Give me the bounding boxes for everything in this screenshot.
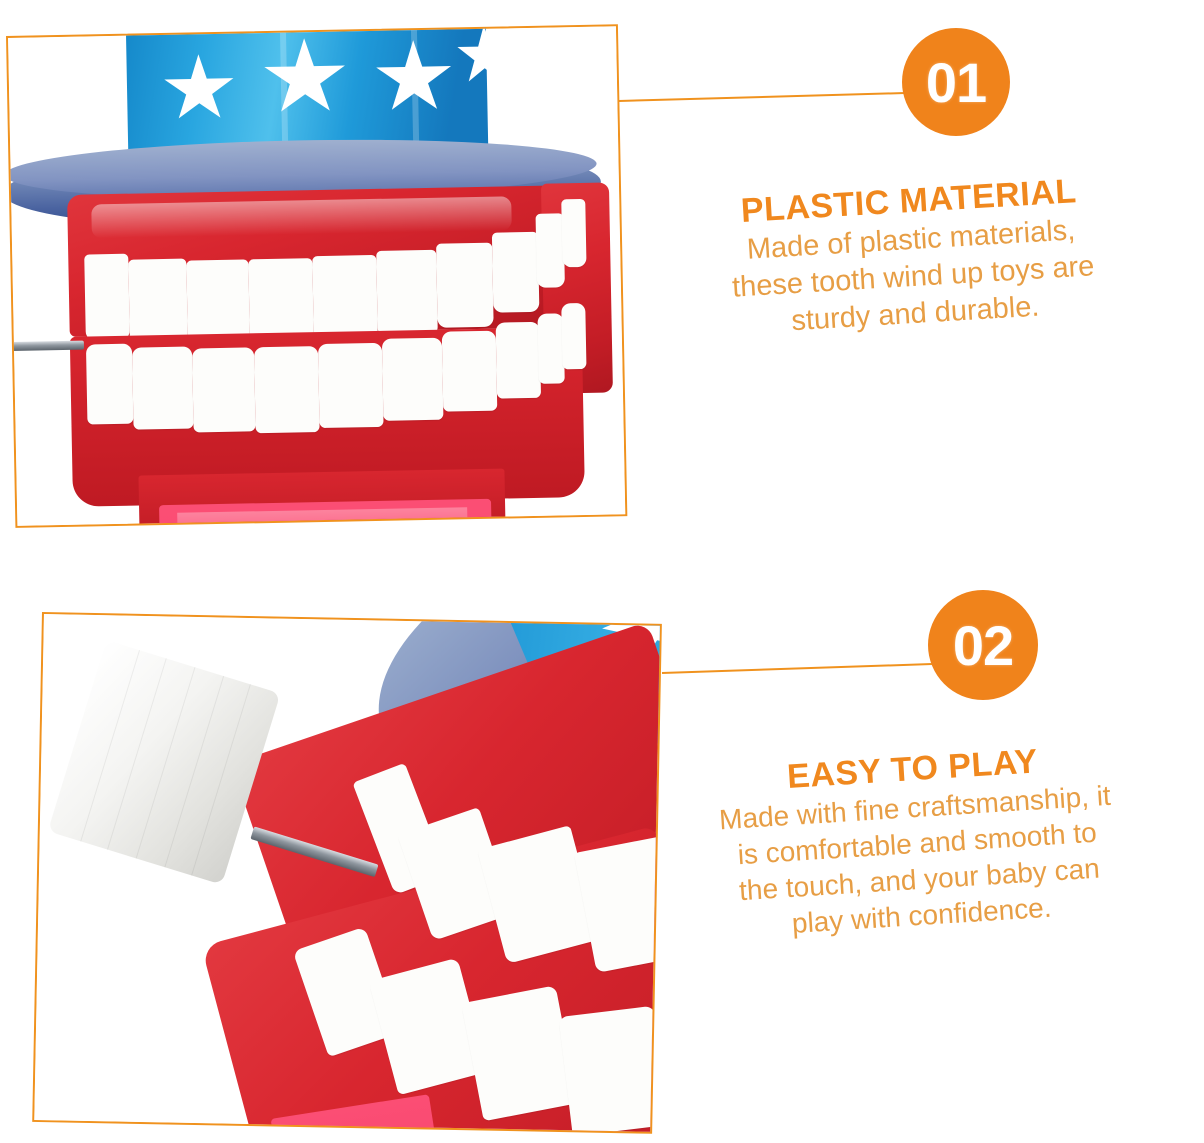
badge-02: 02 <box>928 590 1038 700</box>
tooth-upper <box>536 213 565 288</box>
tooth-upper <box>128 259 188 344</box>
tooth-lower <box>382 338 444 421</box>
tooth-lower <box>132 346 194 429</box>
feature-text-01: PLASTIC MATERIAL Made of plastic materia… <box>628 164 1196 350</box>
tooth-lower <box>442 331 498 412</box>
feature-block-02: 02 EASY TO PLAY Made with fine craftsman… <box>0 570 1204 1143</box>
infographic-page: 01 PLASTIC MATERIAL Made of plastic mate… <box>0 0 1204 1143</box>
connector-line-02 <box>662 663 932 674</box>
feature-text-02: EASY TO PLAY Made with fine craftsmanshi… <box>629 730 1204 951</box>
tooth-upper <box>376 250 438 337</box>
connector-line-01 <box>619 92 909 102</box>
product-photo-01 <box>8 26 625 526</box>
wind-up-key <box>48 640 281 885</box>
tooth-lower <box>558 1006 661 1134</box>
tooth-lower <box>496 322 541 399</box>
tooth-lower <box>254 346 320 433</box>
tooth-upper <box>492 232 540 313</box>
product-photo-02 <box>34 614 660 1132</box>
wind-up-rod <box>6 341 84 352</box>
tooth-upper <box>561 199 586 267</box>
tooth-upper <box>436 243 494 328</box>
badge-number: 01 <box>926 50 986 115</box>
tooth-upper <box>84 254 130 341</box>
tooth-lower <box>86 344 134 425</box>
badge-number: 02 <box>953 613 1013 678</box>
tooth-lower <box>561 303 586 369</box>
tooth-lower <box>192 347 256 432</box>
feature-block-01: 01 PLASTIC MATERIAL Made of plastic mate… <box>0 0 1204 570</box>
photo-frame-02 <box>32 612 662 1134</box>
tooth-lower <box>318 343 384 428</box>
photo-frame-01 <box>6 24 627 528</box>
badge-01: 01 <box>902 28 1010 136</box>
